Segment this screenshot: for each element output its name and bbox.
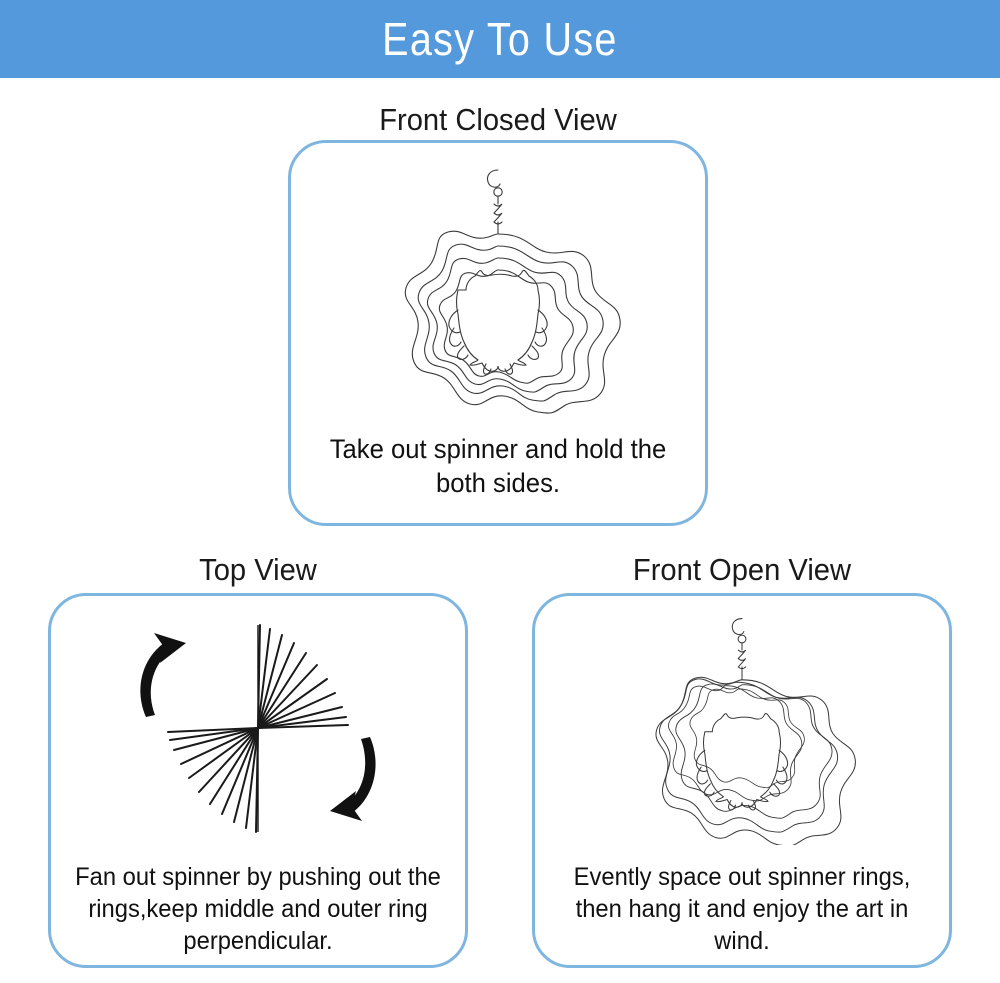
rotation-arrow-up <box>140 633 186 717</box>
page-title: Easy To Use <box>382 16 618 62</box>
illustration-front-closed <box>291 143 705 432</box>
panel-front-open: Evently space out spinner rings, then ha… <box>532 593 952 968</box>
section-title-top-view: Top View <box>61 554 456 585</box>
rotation-arrow-down <box>330 737 376 821</box>
fan-blades-upper-right <box>258 625 348 728</box>
illustration-front-open <box>535 596 949 861</box>
owl-wind-spinner-open-icon <box>592 613 892 845</box>
caption-front-open: Evently space out spinner rings, then ha… <box>545 861 938 965</box>
section-title-front-closed: Front Closed View <box>301 104 696 135</box>
panel-top-view: Fan out spinner by pushing out the rings… <box>48 593 468 968</box>
caption-top-view: Fan out spinner by pushing out the rings… <box>61 861 454 965</box>
caption-front-closed: Take out spinner and hold the both sides… <box>301 432 694 523</box>
fan-rotation-diagram-icon <box>108 621 408 836</box>
illustration-top-view <box>51 596 465 861</box>
header-banner: Easy To Use <box>0 0 1000 78</box>
owl-wind-spinner-closed-icon <box>348 164 648 414</box>
fan-blades-lower-left <box>168 728 258 832</box>
instruction-sheet: Easy To Use Front Closed View <box>0 0 1000 983</box>
panel-front-closed: Take out spinner and hold the both sides… <box>288 140 708 526</box>
section-title-front-open: Front Open View <box>545 554 940 585</box>
